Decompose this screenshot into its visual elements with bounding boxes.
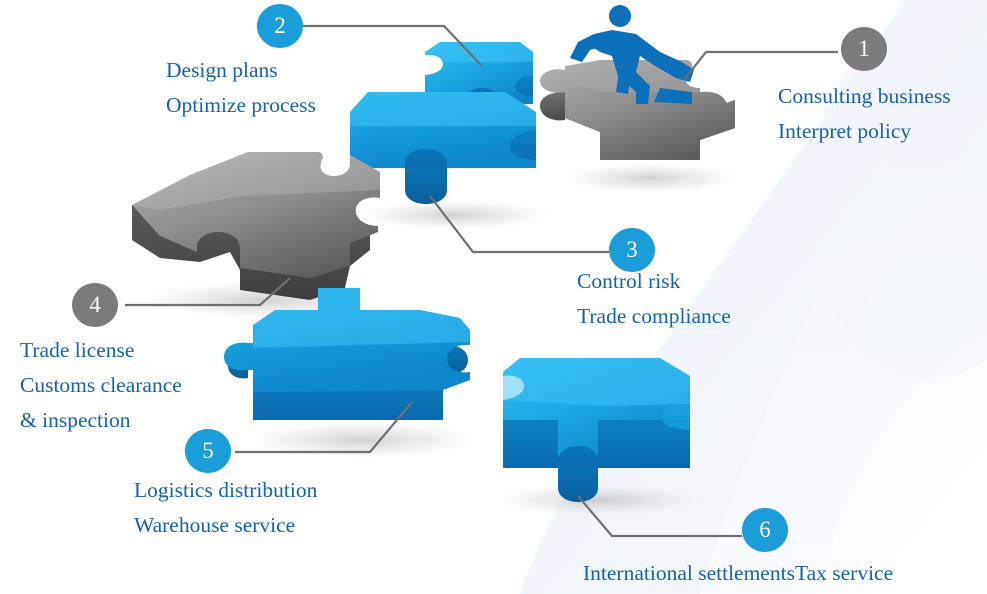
connector-step-2 <box>303 26 482 66</box>
step-label-4: Trade license Customs clearance & inspec… <box>20 333 182 438</box>
step-label-3-line-2: Trade compliance <box>577 299 731 334</box>
step-label-3-line-1: Control risk <box>577 264 731 299</box>
connector-step-3 <box>430 196 609 252</box>
connector-step-1 <box>684 52 838 80</box>
step-label-5-line-1: Logistics distribution <box>134 473 317 508</box>
step-badge-5[interactable]: 5 <box>185 429 231 473</box>
step-label-6-line-1: International settlementsTax service <box>583 556 893 591</box>
connector-step-6 <box>578 496 742 536</box>
step-badge-2[interactable]: 2 <box>257 4 303 48</box>
step-badge-6[interactable]: 6 <box>742 508 788 552</box>
step-label-2-line-2: Optimize process <box>166 88 316 123</box>
connector-step-4 <box>125 278 290 305</box>
step-label-1-line-2: Interpret policy <box>778 114 951 149</box>
step-label-4-line-2: Customs clearance <box>20 368 182 403</box>
infographic-canvas: 1 2 3 4 5 6 Consulting business Interpre… <box>0 0 987 594</box>
step-label-5-line-2: Warehouse service <box>134 508 317 543</box>
step-label-4-line-1: Trade license <box>20 333 182 368</box>
step-label-2-line-1: Design plans <box>166 53 316 88</box>
step-badge-4[interactable]: 4 <box>72 283 118 327</box>
step-label-6: International settlementsTax service <box>583 556 893 591</box>
step-label-3: Control risk Trade compliance <box>577 264 731 334</box>
step-label-5: Logistics distribution Warehouse service <box>134 473 317 543</box>
step-label-2: Design plans Optimize process <box>166 53 316 123</box>
step-badge-1[interactable]: 1 <box>841 27 887 71</box>
connector-step-5 <box>235 402 412 452</box>
step-label-4-line-3: & inspection <box>20 403 182 438</box>
step-label-1-line-1: Consulting business <box>778 79 951 114</box>
step-label-1: Consulting business Interpret policy <box>778 79 951 149</box>
